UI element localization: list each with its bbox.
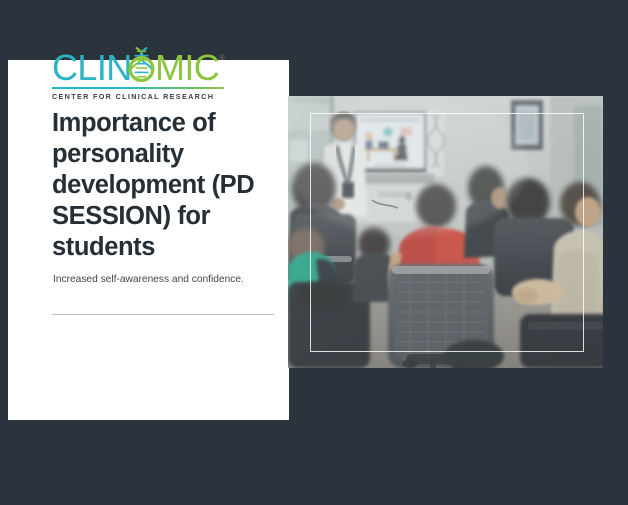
subtitle-text: Increased self-awareness and confidence.	[53, 272, 253, 287]
logo-text-clin: CLIN	[52, 47, 132, 86]
registered-trademark-icon: ®	[219, 53, 225, 62]
logo-underline-rule	[52, 87, 224, 89]
logo-text-mic: MIC	[155, 47, 219, 86]
page-title: Importance of personality development (P…	[52, 108, 276, 263]
divider	[52, 314, 274, 315]
presentation-slide: CLIN MIC ® CENTER FOR CLINICAL RESEARCH …	[0, 0, 628, 505]
clinomic-logo: CLIN MIC ® CENTER FOR CLINICAL RESEARCH	[52, 46, 228, 101]
pd-session-classroom-photo	[288, 96, 603, 368]
logo-wordmark: CLIN MIC ®	[52, 46, 228, 86]
logo-tagline: CENTER FOR CLINICAL RESEARCH	[52, 92, 228, 101]
